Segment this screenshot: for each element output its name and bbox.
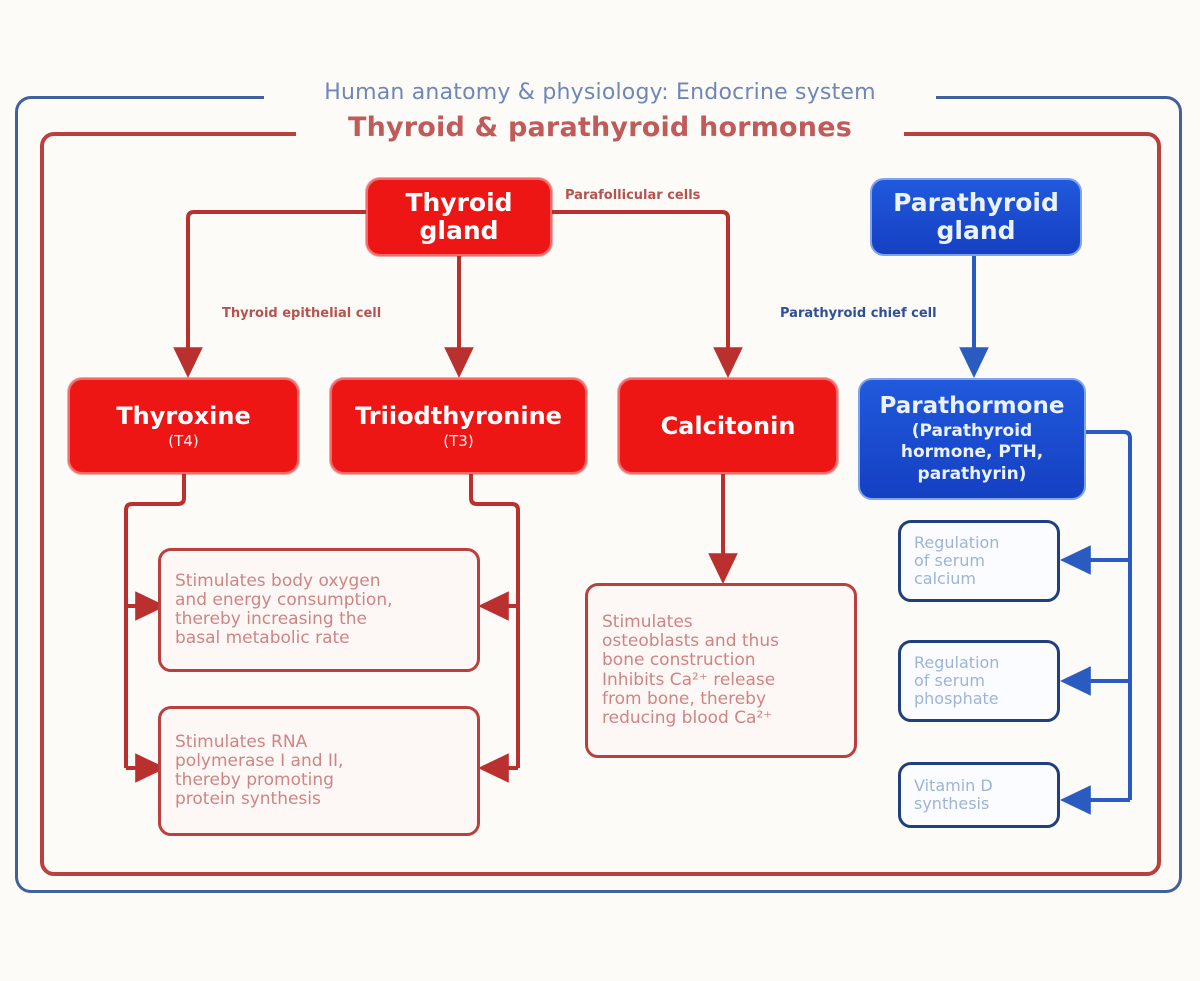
vitamin-d-line-1: Vitamin D [914,777,993,795]
parathyroid-gland-line2: gland [936,217,1015,245]
label-parafollicular-cells: Parafollicular cells [565,188,700,203]
label-thyroid-epithelial-cell: Thyroid epithelial cell [222,306,381,321]
node-effect-serum-calcium[interactable]: Regulation of serum calcium [898,520,1060,602]
thyroxine-abbrev: (T4) [168,433,198,450]
serum-phosphate-line-2: of serum [914,672,985,690]
serum-phosphate-line-1: Regulation [914,654,999,672]
calcitonin-effect-line-6: reducing blood Ca²⁺ [602,709,772,728]
thyroxine-name: Thyroxine [116,403,251,430]
rna-line-1: Stimulates RNA [175,733,307,752]
bmr-line-3: thereby increasing the [175,610,367,629]
triiodthyronine-abbrev: (T3) [443,433,473,450]
serum-phosphate-line-3: phosphate [914,690,999,708]
node-effect-vitamin-d-synthesis[interactable]: Vitamin D synthesis [898,762,1060,828]
node-effect-basal-metabolic-rate[interactable]: Stimulates body oxygen and energy consum… [158,548,480,672]
thyroid-gland-line1: Thyroid [405,189,512,217]
bmr-line-4: basal metabolic rate [175,629,350,648]
rna-line-3: thereby promoting [175,771,334,790]
vitamin-d-line-2: synthesis [914,795,989,813]
parathormone-detail-line2: hormone, PTH, [901,443,1043,463]
node-thyroid-gland[interactable]: Thyroid gland [366,178,552,256]
diagram-canvas: Human anatomy & physiology: Endocrine sy… [0,0,1200,981]
serum-calcium-line-2: of serum [914,552,985,570]
rna-line-2: polymerase I and II, [175,752,343,771]
parathormone-name: Parathormone [880,394,1065,420]
node-effect-serum-phosphate[interactable]: Regulation of serum phosphate [898,640,1060,722]
bmr-line-2: and energy consumption, [175,591,393,610]
thyroid-gland-line2: gland [419,217,498,245]
node-calcitonin[interactable]: Calcitonin [618,378,838,474]
parathormone-detail-line3: parathyrin) [918,465,1027,485]
label-parathyroid-chief-cell: Parathyroid chief cell [780,306,937,321]
diagram-subtitle: Human anatomy & physiology: Endocrine sy… [268,80,932,105]
bmr-line-1: Stimulates body oxygen [175,572,381,591]
triiodthyronine-name: Triiodthyronine [355,403,562,430]
calcitonin-effect-line-2: osteoblasts and thus [602,632,779,651]
rna-line-4: protein synthesis [175,790,321,809]
node-parathyroid-gland[interactable]: Parathyroid gland [870,178,1082,256]
calcitonin-name: Calcitonin [661,413,796,440]
diagram-title: Thyroid & parathyroid hormones [300,112,900,143]
parathyroid-gland-line1: Parathyroid [893,189,1059,217]
node-effect-protein-synthesis[interactable]: Stimulates RNA polymerase I and II, ther… [158,706,480,836]
serum-calcium-line-1: Regulation [914,534,999,552]
serum-calcium-line-3: calcium [914,570,976,588]
node-parathormone[interactable]: Parathormone (Parathyroid hormone, PTH, … [858,378,1086,500]
node-triiodthyronine[interactable]: Triiodthyronine (T3) [330,378,587,474]
parathormone-detail-line1: (Parathyroid [912,422,1032,442]
node-effect-calcitonin[interactable]: Stimulates osteoblasts and thus bone con… [585,583,857,758]
node-thyroxine[interactable]: Thyroxine (T4) [68,378,299,474]
calcitonin-effect-line-5: from bone, thereby [602,690,766,709]
calcitonin-effect-line-1: Stimulates [602,613,693,632]
calcitonin-effect-line-4: Inhibits Ca²⁺ release [602,671,775,690]
calcitonin-effect-line-3: bone construction [602,651,756,670]
